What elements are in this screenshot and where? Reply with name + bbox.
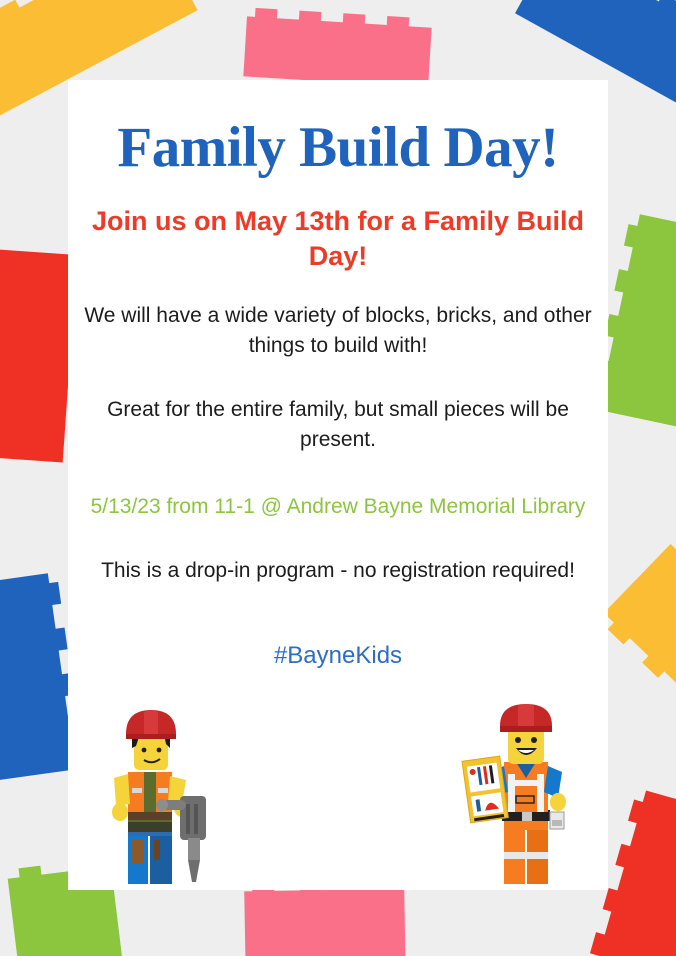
hashtag: #BayneKids (68, 642, 608, 670)
brick-stud (255, 8, 278, 19)
brick-stud (48, 582, 61, 605)
brick-stud (343, 13, 366, 24)
lego-brick-pink-bottom-center (244, 889, 406, 956)
lego-brick-pink-top-center (243, 16, 431, 87)
brick-body (604, 544, 676, 688)
lego-brick-blue-left-lower (0, 573, 75, 780)
registration-note: This is a drop-in program - no registrat… (68, 556, 608, 586)
event-subtitle: Join us on May 13th for a Family Build D… (68, 204, 608, 275)
lego-minifigure-construction-worker-manual (458, 700, 580, 890)
lego-minifigure-construction-worker-jackhammer (104, 700, 226, 890)
lego-brick-green-right (598, 214, 676, 430)
brick-body (244, 889, 406, 956)
lego-brick-yellow-right (604, 544, 676, 688)
poster-canvas: Family Build Day! Join us on May 13th fo… (0, 0, 676, 956)
body-paragraph-safety: Great for the entire family, but small p… (68, 395, 608, 455)
page-title: Family Build Day! (68, 118, 608, 178)
brick-stud (387, 16, 410, 27)
brick-body (243, 16, 431, 87)
brick-stud (55, 627, 68, 650)
brick-stud (299, 11, 322, 22)
body-paragraph-materials: We will have a wide variety of blocks, b… (68, 301, 608, 361)
event-date-location: 5/13/23 from 11-1 @ Andrew Bayne Memoria… (68, 492, 608, 522)
lego-brick-red-left (0, 250, 77, 463)
brick-body (0, 250, 77, 463)
